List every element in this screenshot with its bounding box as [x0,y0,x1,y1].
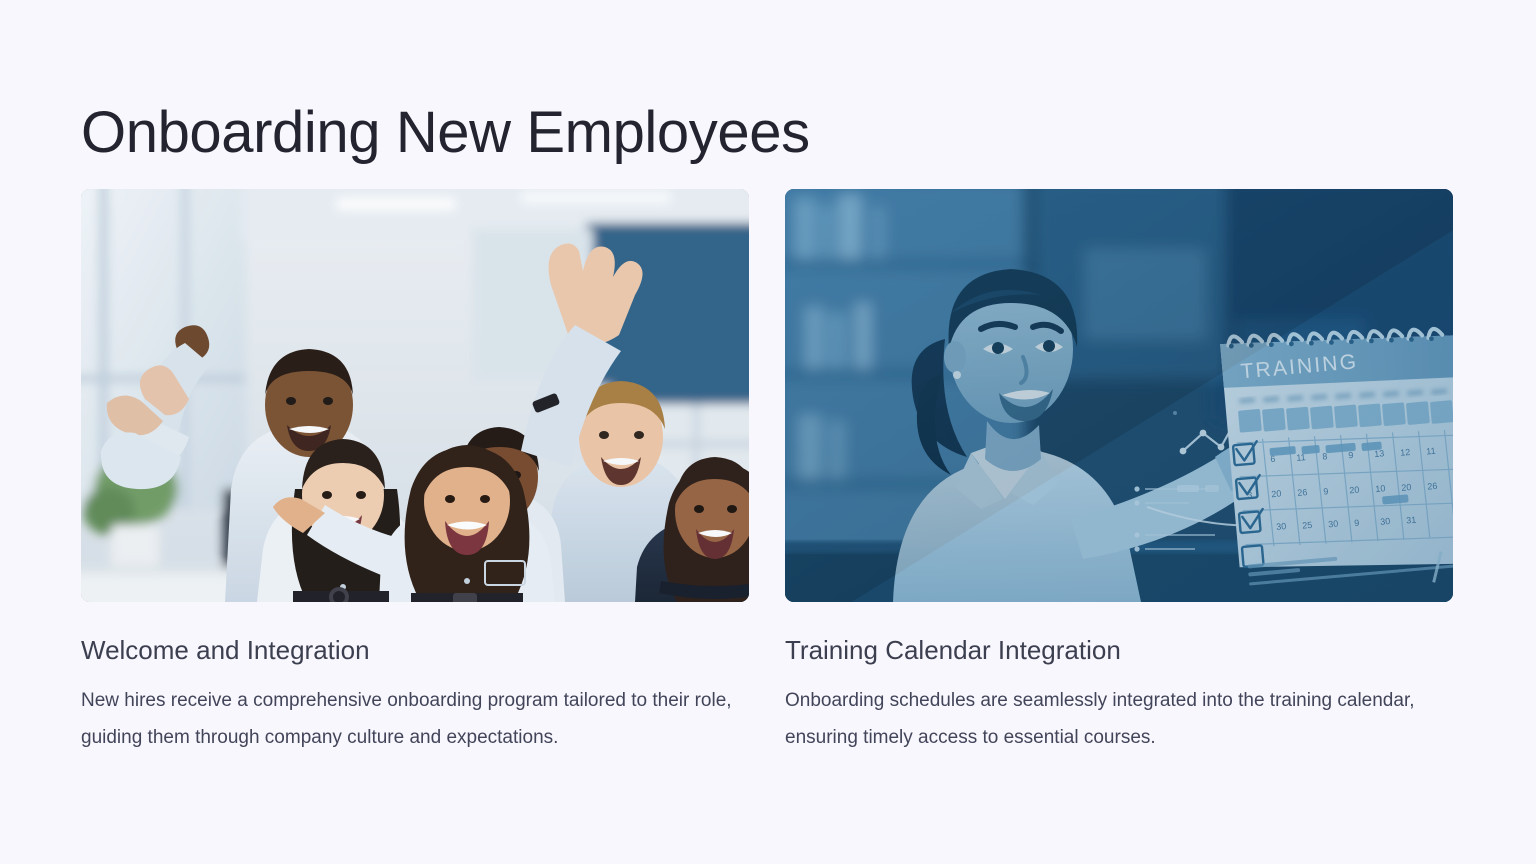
card-training-calendar-integration: TRAINING [785,189,1453,756]
page-title: Onboarding New Employees [81,101,810,165]
card-body-text: Onboarding schedules are seamlessly inte… [785,682,1441,756]
training-calendar-photo: TRAINING [785,189,1453,602]
card-body-text: New hires receive a comprehensive onboar… [81,682,741,756]
card-welcome-and-integration: Welcome and Integration New hires receiv… [81,189,749,756]
card-heading: Welcome and Integration [81,635,749,666]
card-heading: Training Calendar Integration [785,635,1453,666]
team-celebration-photo [81,189,749,602]
card-grid: Welcome and Integration New hires receiv… [81,189,1453,756]
team-celebration-illustration [81,189,749,602]
training-calendar-illustration: TRAINING [785,189,1453,602]
slide-root: Onboarding New Employees [0,0,1536,864]
